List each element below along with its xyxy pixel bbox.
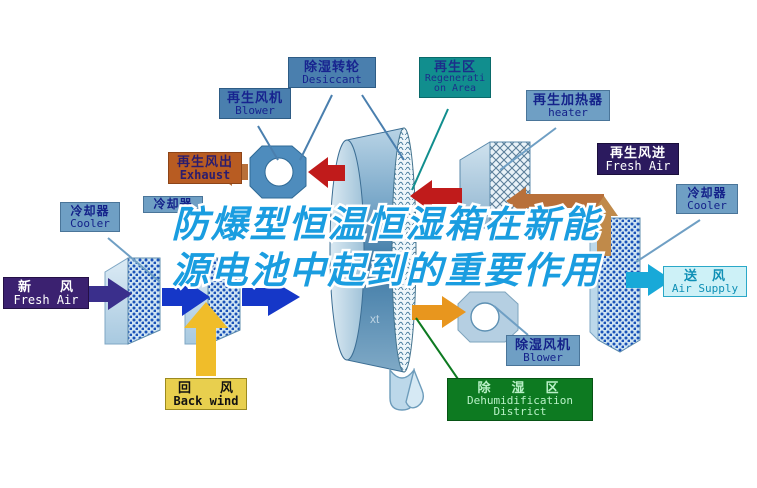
label-regeneration-area: 再生区 Regenerati on Area [419,57,491,98]
overlay-title: 防爆型恒温恒湿箱在新能 源电池中起到的重要作用 [126,200,646,295]
label-en: Regenerati on Area [424,74,486,95]
label-en: Cooler [65,218,115,230]
label-air-supply: 送 风 Air Supply [663,266,747,297]
label-back-wind: 回 风 Back wind [165,378,247,410]
label-cn: 冷却器 [65,205,115,218]
label-dehumidification-district: 除 湿 区 Dehumidification District [447,378,593,421]
diagram-canvas: xt [0,0,757,488]
label-cn: 再生风出 [173,155,237,169]
label-cn: 除湿风机 [511,338,575,352]
label-en: heater [531,107,605,119]
label-en: Air Supply [668,283,742,295]
label-regeneration-exhaust: 再生风出 Exhaust [168,152,242,184]
label-cn: 新 风 [8,280,84,294]
label-fresh-air: 新 风 Fresh Air [3,277,89,309]
label-en: Back wind [170,395,242,408]
label-en: Dehumidification District [452,395,588,418]
label-cn: 再生风进 [602,146,674,160]
label-cn: 冷却器 [681,187,733,200]
svg-text:xt: xt [370,312,380,326]
label-cn: 回 风 [170,381,242,395]
overlay-title-line-2: 源电池中起到的重要作用 [172,248,601,293]
label-en: Fresh Air [8,294,84,307]
label-regeneration-blower: 再生风机 Blower [219,88,291,119]
regeneration-blower-housing [250,146,306,198]
label-en: Fresh Air [602,160,674,173]
overlay-title-line-1: 防爆型恒温恒湿箱在新能 [172,202,601,247]
label-cn: 再生加热器 [531,93,605,107]
label-en: Exhaust [173,169,237,182]
label-en: Desiccant [293,74,371,86]
label-en: Blower [511,352,575,364]
label-regeneration-heater: 再生加热器 heater [526,90,610,121]
label-regeneration-fresh-air: 再生风进 Fresh Air [597,143,679,175]
label-cn: 除湿转轮 [293,60,371,74]
label-cooler-right: 冷却器 Cooler [676,184,738,214]
label-cn: 再生区 [424,60,486,74]
label-cn: 送 风 [668,269,742,283]
label-cooler-left: 冷却器 Cooler [60,202,120,232]
condensate-droplet [390,370,423,410]
label-en: Cooler [681,200,733,212]
label-cn: 再生风机 [224,91,286,105]
label-en: Blower [224,105,286,117]
label-dehumidification-blower: 除湿风机 Blower [506,335,580,366]
label-desiccant-wheel: 除湿转轮 Desiccant [288,57,376,88]
label-cn: 除 湿 区 [452,381,588,395]
